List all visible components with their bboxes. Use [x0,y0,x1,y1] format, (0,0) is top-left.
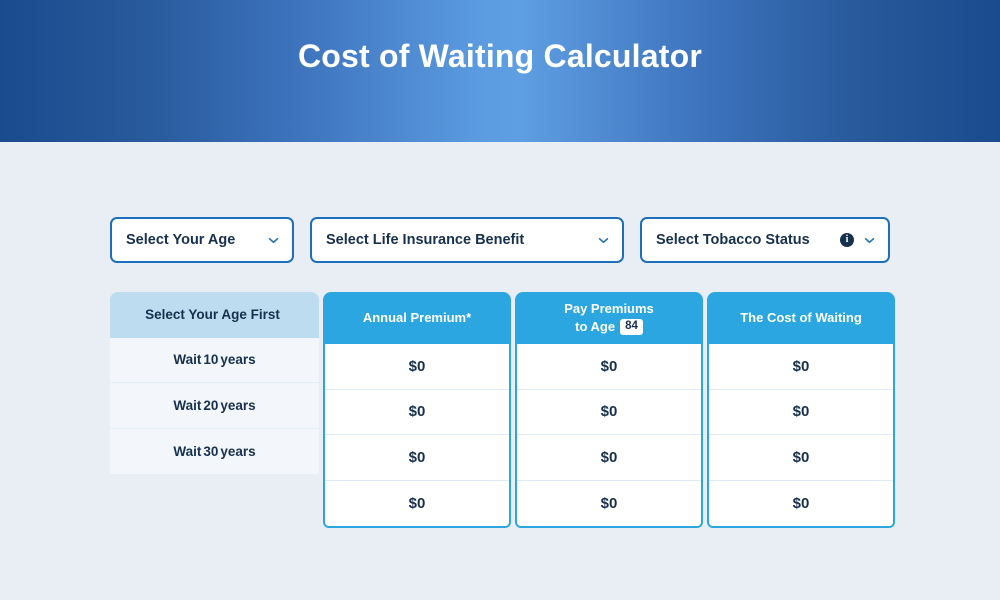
row-label-tail: years [220,398,255,413]
table-cell: $0 [517,481,701,527]
row-label-lead: Wait [173,398,201,413]
column-body: $0 $0 $0 $0 [515,344,703,528]
table-cell: $0 [709,344,893,390]
row-label-number: 30 [201,444,220,459]
row-label-lead: Wait [173,352,201,367]
table-row-label: Wait 30 years [110,429,319,475]
select-tobacco-status-label: Select Tobacco Status [656,232,830,248]
column-body: $0 $0 $0 $0 [323,344,511,528]
row-label-tail: years [220,352,255,367]
table-cell: $0 [517,344,701,390]
column-header: Annual Premium* [323,292,511,344]
info-icon[interactable]: i [840,233,854,247]
chevron-down-icon[interactable] [864,235,875,246]
column-header: The Cost of Waiting [707,292,895,344]
table-row-label: Wait 10 years [110,338,319,384]
row-label-lead: Wait [173,444,201,459]
chevron-down-icon[interactable] [598,235,609,246]
column-annual-premium: Annual Premium* $0 $0 $0 $0 [323,292,511,528]
row-label-column: Select Your Age First Wait 10 years Wait… [110,292,319,474]
table-cell: $0 [325,344,509,390]
column-body: $0 $0 $0 $0 [707,344,895,528]
results-table: Select Your Age First Wait 10 years Wait… [110,292,895,528]
select-your-age-label: Select Your Age [126,232,258,248]
table-cell: $0 [517,390,701,436]
column-cost-of-waiting: The Cost of Waiting $0 $0 $0 $0 [707,292,895,528]
table-cell: $0 [517,435,701,481]
column-header-line1: The Cost of Waiting [740,309,862,327]
column-pay-premiums-to-age: Pay Premiums to Age 84 $0 $0 $0 $0 [515,292,703,528]
table-row-label: Wait 20 years [110,383,319,429]
table-cell: $0 [709,390,893,436]
column-header: Pay Premiums to Age 84 [515,292,703,344]
select-tobacco-status-dropdown[interactable]: Select Tobacco Status i [640,217,890,263]
table-cell: $0 [325,435,509,481]
table-row-label: Select Your Age First [110,292,319,338]
chevron-down-icon[interactable] [268,235,279,246]
row-label-lead: Select Your Age First [145,307,280,322]
column-header-line1: Annual Premium* [363,309,471,327]
row-label-number: 10 [201,352,220,367]
row-label-number: 20 [201,398,220,413]
controls-row: Select Your Age Select Life Insurance Be… [110,217,890,263]
row-label-tail: years [220,444,255,459]
select-life-insurance-benefit-dropdown[interactable]: Select Life Insurance Benefit [310,217,624,263]
column-header-line2: to Age [575,318,615,336]
table-cell: $0 [709,481,893,527]
app-header: Cost of Waiting Calculator [0,0,1000,142]
page-title: Cost of Waiting Calculator [298,39,702,102]
column-header-line1: Pay Premiums [564,300,654,318]
table-cell: $0 [325,481,509,527]
column-header-line2-group: to Age 84 [575,318,643,336]
table-cell: $0 [325,390,509,436]
select-benefit-label: Select Life Insurance Benefit [326,232,588,248]
table-cell: $0 [709,435,893,481]
age-badge: 84 [620,319,643,335]
select-your-age-dropdown[interactable]: Select Your Age [110,217,294,263]
